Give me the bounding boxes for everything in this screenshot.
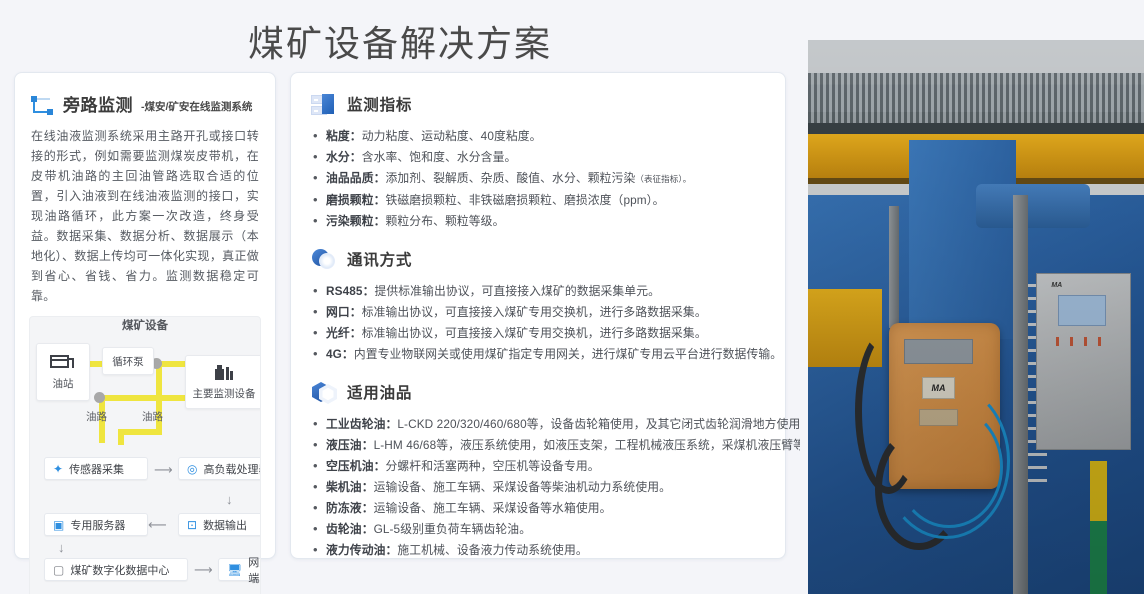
solution-page: 煤矿设备解决方案 旁路监测 -煤安/矿安在线监测系统 在线油液监测系统采用主路开… — [0, 0, 1144, 594]
list-item: 水分：含水率、饱和度、水分含量。 — [313, 147, 769, 168]
list-item: 液力传动油：施工机械、设备液力传动系统使用。 — [313, 540, 769, 561]
list-item: 磨损颗粒：铁磁磨损颗粒、非铁磁磨损颗粒、磨损浓度（ppm）。 — [313, 190, 769, 211]
arrow-down-1: ↓ — [226, 493, 233, 506]
section-list: 粘度：动力粘度、运动粘度、40度粘度。 水分：含水率、饱和度、水分含量。 油品品… — [313, 126, 769, 232]
data-center-icon: ▢ — [53, 564, 64, 576]
flow-node-sensor-collect[interactable]: ✦ 传感器采集 — [44, 457, 148, 480]
list-item: 齿轮油：GL-5级别重负荷车辆齿轮油。 — [313, 519, 769, 540]
list-item: 工业齿轮油：L-CKD 220/320/460/680等，设备齿轮箱使用，及其它… — [313, 414, 769, 435]
list-item: 4G：内置专业物联网关或使用煤矿指定专用网关，进行煤矿专用云平台进行数据传输。 — [313, 344, 769, 365]
section-title: 监测指标 — [347, 93, 412, 115]
diagram-equipment-area: 油站 循环泵 — [30, 333, 260, 445]
flow-node-web-client[interactable]: 🖥 网页端 — [218, 558, 261, 581]
bypass-node-link-icon — [31, 96, 55, 116]
section-header: 通讯方式 — [311, 246, 769, 272]
monitor-icon: 🖥 — [227, 564, 242, 576]
pipe-bottom-horizontal — [118, 429, 162, 435]
list-item: 防冻液：运输设备、施工车辆、采煤设备等水箱使用。 — [313, 498, 769, 519]
data-output-icon: ⊡ — [187, 519, 197, 531]
diagram-node-oil-station[interactable]: 油站 — [36, 343, 90, 401]
list-item: 液压油：L-HM 46/68等，液压系统使用，如液压支架，工程机械液压系统，采煤… — [313, 435, 769, 456]
arrow-right-2: ⟶ — [194, 563, 213, 576]
sensor-collect-icon: ✦ — [53, 463, 63, 475]
section-list: 工业齿轮油：L-CKD 220/320/460/680等，设备齿轮箱使用，及其它… — [313, 414, 769, 561]
diagram-flow-area: ✦ 传感器采集 ⟶ ◎ 高负载处理器 ↓ ⊡ 数据输出 — [30, 445, 260, 594]
left-card-subtitle: -煤安/矿安在线监测系统 — [141, 99, 252, 116]
arrow-down-2: ↓ — [58, 541, 65, 554]
flow-node-data-center[interactable]: ▢ 煤矿数字化数据中心 — [44, 558, 188, 581]
list-item: 网口：标准输出协议，可直接接入煤矿专用交换机，进行多路数据采集。 — [313, 302, 769, 323]
flow-node-label: 数据输出 — [203, 517, 247, 533]
list-item: 柴机油：运输设备、施工车辆、采煤设备等柴油机动力系统使用。 — [313, 477, 769, 498]
overlapping-hexagons-icon — [311, 379, 337, 405]
bypass-monitoring-card: 旁路监测 -煤安/矿安在线监测系统 在线油液监测系统采用主路开孔或接口转接的形式… — [14, 72, 276, 559]
pipe-label-left: 油路 — [86, 409, 107, 424]
pipe-bottom-vertical — [118, 429, 124, 445]
section-list: RS485：提供标准输出协议，可直接接入煤矿的数据采集单元。 网口：标准输出协议… — [313, 281, 769, 365]
diagram-top-caption: 煤矿设备 — [30, 317, 260, 333]
arrow-left-1: ⟵ — [148, 518, 167, 531]
flow-node-label: 煤矿数字化数据中心 — [70, 562, 169, 578]
section-header: 监测指标 — [311, 91, 769, 117]
section-applicable-oils: 适用油品 工业齿轮油：L-CKD 220/320/460/680等，设备齿轮箱使… — [307, 379, 769, 561]
diagram-node-monitored-equipment[interactable]: 主要监测设备 — [185, 355, 261, 409]
flow-node-label: 专用服务器 — [70, 517, 125, 533]
server-stack-icon — [311, 91, 337, 117]
cards-row: 旁路监测 -煤安/矿安在线监测系统 在线油液监测系统采用主路开孔或接口转接的形式… — [0, 72, 800, 559]
oil-station-icon — [50, 353, 76, 374]
section-monitoring-indicators: 监测指标 粘度：动力粘度、运动粘度、40度粘度。 水分：含水率、饱和度、水分含量… — [307, 91, 769, 232]
page-title: 煤矿设备解决方案 — [0, 0, 800, 72]
diagram-node-circulation-pump[interactable]: 循环泵 — [102, 347, 154, 375]
flow-node-data-output[interactable]: ⊡ 数据输出 — [178, 513, 261, 536]
flow-node-dedicated-server[interactable]: ▣ 专用服务器 — [44, 513, 148, 536]
processor-icon: ◎ — [187, 463, 197, 475]
left-card-body-text: 在线油液监测系统采用主路开孔或接口转接的形式，例如需要监测煤炭皮带机，在皮带机油… — [31, 126, 259, 306]
server-icon: ▣ — [53, 519, 64, 531]
list-item: 光纤：标准输出协议，可直接接入煤矿专用交换机，进行多路数据采集。 — [313, 323, 769, 344]
node-label: 油站 — [53, 376, 74, 391]
section-title: 适用油品 — [347, 381, 412, 403]
content-column: 煤矿设备解决方案 旁路监测 -煤安/矿安在线监测系统 在线油液监测系统采用主路开… — [0, 0, 800, 594]
pipe-joint-left — [94, 392, 105, 403]
pipe-label-right: 油路 — [142, 409, 163, 424]
coal-mine-equipment-photo: MA MA — [808, 40, 1144, 594]
arrow-right-1: ⟶ — [154, 463, 173, 476]
list-item: 污染颗粒：颗粒分布、颗粒等级。 — [313, 211, 769, 232]
list-item: 粘度：动力粘度、运动粘度、40度粘度。 — [313, 126, 769, 147]
list-item: RS485：提供标准输出协议，可直接接入煤矿的数据采集单元。 — [313, 281, 769, 302]
photo-column: MA MA — [800, 0, 1144, 594]
overlapping-circles-icon — [311, 246, 337, 272]
node-label: 循环泵 — [112, 354, 144, 369]
system-diagram: 煤矿设备 — [29, 316, 261, 594]
left-card-header: 旁路监测 -煤安/矿安在线监测系统 — [31, 91, 261, 116]
left-card-title: 旁路监测 — [63, 91, 133, 116]
section-communication: 通讯方式 RS485：提供标准输出协议，可直接接入煤矿的数据采集单元。 网口：标… — [307, 246, 769, 365]
flow-node-label: 传感器采集 — [69, 461, 124, 477]
monitored-equipment-icon — [211, 363, 237, 384]
section-title: 通讯方式 — [347, 248, 412, 270]
flow-node-high-load-processor[interactable]: ◎ 高负载处理器 — [178, 457, 261, 480]
flow-node-label: 高负载处理器 — [203, 461, 261, 477]
node-label: 主要监测设备 — [193, 386, 256, 401]
list-item: 油品品质：添加剂、裂解质、杂质、酸值、水分、颗粒污染（表征指标）。 — [313, 168, 769, 190]
list-item: 空压机油：分螺杆和活塞两种，空压机等设备专用。 — [313, 456, 769, 477]
flow-node-label: 网页端 — [248, 554, 261, 586]
specs-card: 监测指标 粘度：动力粘度、运动粘度、40度粘度。 水分：含水率、饱和度、水分含量… — [290, 72, 786, 559]
section-header: 适用油品 — [311, 379, 769, 405]
